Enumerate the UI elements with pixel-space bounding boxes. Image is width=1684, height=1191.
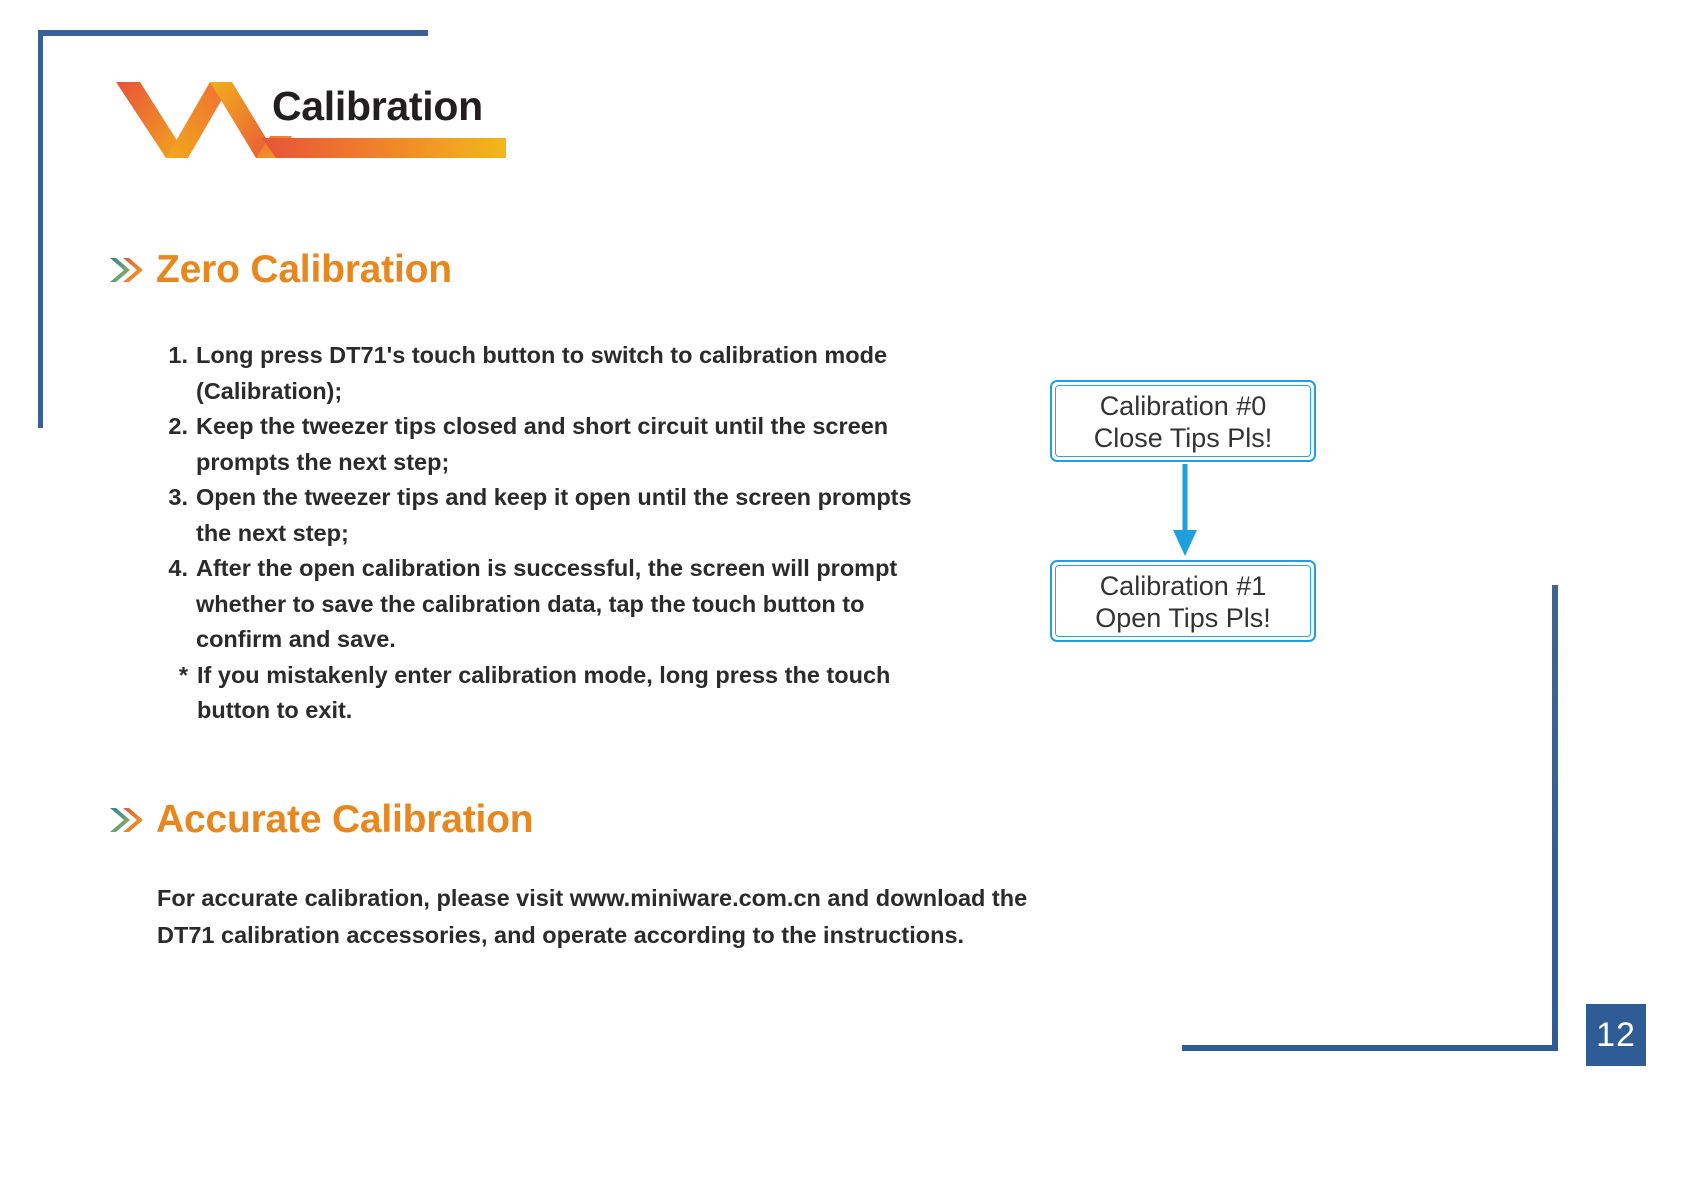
- double-chevron-icon: [108, 800, 144, 840]
- screen-prompt-line-1: Calibration #0: [1100, 390, 1267, 422]
- section-heading-label: Accurate Calibration: [156, 798, 533, 842]
- list-item-text: Open the tweezer tips and keep it open u…: [196, 480, 916, 551]
- list-item: 4. After the open calibration is success…: [156, 551, 916, 658]
- accurate-calibration-paragraph: For accurate calibration, please visit w…: [157, 880, 1057, 954]
- logo-title: Calibration: [272, 83, 483, 130]
- list-marker: 2.: [156, 409, 196, 445]
- list-item: 3. Open the tweezer tips and keep it ope…: [156, 480, 916, 551]
- screen-prompt-box-0-inner: Calibration #0 Close Tips Pls!: [1055, 385, 1311, 457]
- screen-prompt-line-2: Open Tips Pls!: [1095, 602, 1271, 634]
- list-item-text: After the open calibration is successful…: [196, 551, 916, 658]
- list-marker: 3.: [156, 480, 196, 516]
- bottom-right-frame-vertical: [1552, 585, 1558, 1051]
- bottom-right-frame-horizontal: [1182, 1045, 1558, 1051]
- section-heading-accurate-calibration: Accurate Calibration: [108, 798, 533, 842]
- top-left-frame-horizontal: [38, 30, 428, 36]
- zero-calibration-list: 1. Long press DT71's touch button to swi…: [156, 338, 916, 729]
- note-text: If you mistakenly enter calibration mode…: [197, 658, 916, 729]
- list-item-note: * If you mistakenly enter calibration mo…: [156, 658, 916, 729]
- screen-prompt-line-2: Close Tips Pls!: [1094, 422, 1273, 454]
- section-heading-zero-calibration: Zero Calibration: [108, 248, 452, 292]
- screen-prompt-box-1: Calibration #1 Open Tips Pls!: [1050, 560, 1316, 642]
- calibration-flow-diagram: Calibration #0 Close Tips Pls! Calibrati…: [1050, 380, 1322, 642]
- screen-prompt-box-1-inner: Calibration #1 Open Tips Pls!: [1055, 565, 1311, 637]
- list-item: 1. Long press DT71's touch button to swi…: [156, 338, 916, 409]
- list-item-text: Long press DT71's touch button to switch…: [196, 338, 916, 409]
- section-heading-label: Zero Calibration: [156, 248, 452, 292]
- list-marker: 4.: [156, 551, 196, 587]
- note-marker: *: [156, 658, 197, 694]
- list-item-text: Keep the tweezer tips closed and short c…: [196, 409, 916, 480]
- screen-prompt-line-1: Calibration #1: [1100, 570, 1267, 602]
- double-chevron-icon: [108, 250, 144, 290]
- page-number-badge: 12: [1586, 1004, 1646, 1066]
- logo-block: Calibration: [110, 66, 670, 176]
- down-arrow-icon: [1168, 464, 1202, 558]
- list-item: 2. Keep the tweezer tips closed and shor…: [156, 409, 916, 480]
- screen-prompt-box-0: Calibration #0 Close Tips Pls!: [1050, 380, 1316, 462]
- top-left-frame-vertical: [38, 30, 43, 428]
- list-marker: 1.: [156, 338, 196, 374]
